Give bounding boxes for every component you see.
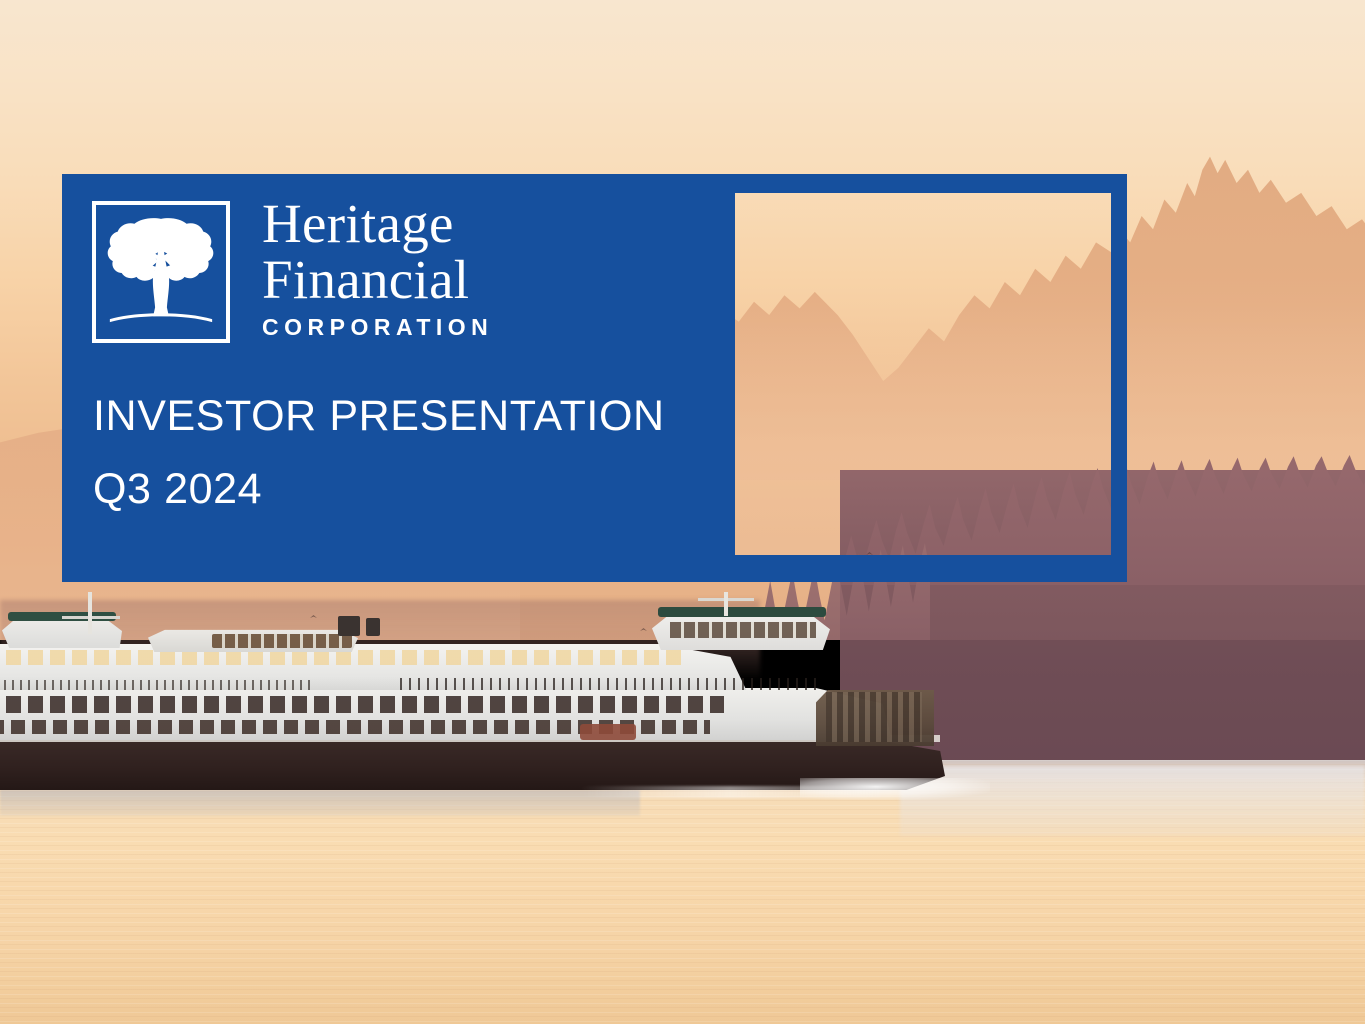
logo-line-financial: Financial xyxy=(262,253,612,307)
logo-line-corporation: CORPORATION xyxy=(262,314,612,341)
oak-tree-logo-mark xyxy=(92,201,230,343)
oak-tree-icon xyxy=(102,211,220,329)
water-glint xyxy=(900,766,1365,836)
ferry-rail-forward xyxy=(0,680,310,690)
ferry-aft-roof xyxy=(658,607,826,617)
ferry-bow-mast xyxy=(88,592,92,634)
ferry-window-row-lit xyxy=(0,650,684,665)
ferry-aft-windows xyxy=(670,622,816,638)
ferry-mid-windows xyxy=(212,634,352,648)
ferry-rail-aft xyxy=(400,678,820,690)
title-block: INVESTOR PRESENTATION Q3 2024 xyxy=(93,394,713,512)
logo-wordmark: Heritage Financial CORPORATION xyxy=(262,197,612,341)
heritage-financial-logo[interactable]: Heritage Financial CORPORATION xyxy=(92,201,612,347)
title-slide: Heritage Financial CORPORATION INVESTOR … xyxy=(0,0,1365,1024)
ferry-lifeboat xyxy=(580,724,636,740)
ferry-wake-trail xyxy=(580,786,880,798)
logo-line-heritage: Heritage xyxy=(262,197,612,251)
slide-subtitle: Q3 2024 xyxy=(93,467,713,512)
slide-title: INVESTOR PRESENTATION xyxy=(93,394,713,439)
ferry-aft-mast xyxy=(724,592,728,616)
ferry-window-row-middle xyxy=(0,696,724,713)
window-frame-top xyxy=(735,174,1127,193)
ferry-funnel xyxy=(338,616,360,636)
window-frame-bottom xyxy=(735,555,1127,582)
window-frame-right xyxy=(1111,174,1127,582)
washington-state-ferry xyxy=(0,592,965,802)
ferry-stern-door xyxy=(826,692,922,742)
ferry-funnel-secondary xyxy=(366,618,380,636)
